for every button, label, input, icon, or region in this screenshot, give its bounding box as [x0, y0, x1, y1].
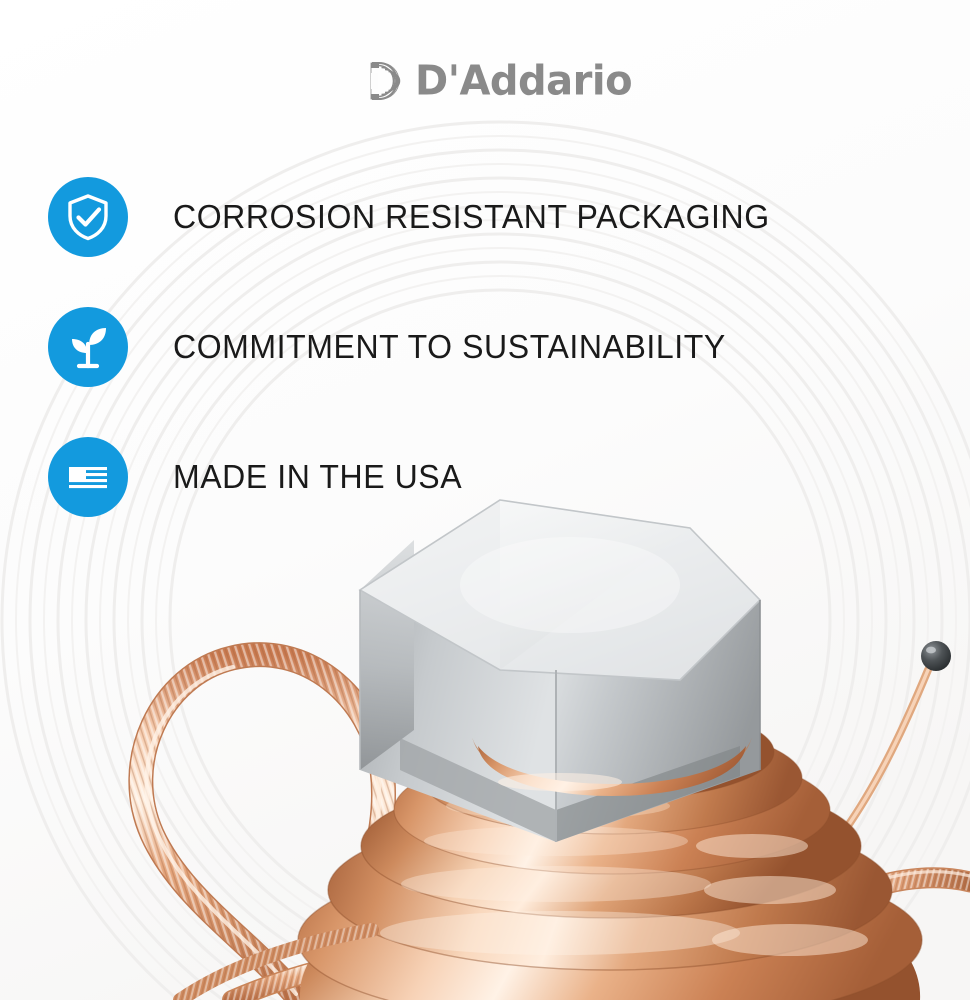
brand-logo: D'Addario [368, 59, 632, 103]
usa-flag-icon [48, 437, 128, 517]
feature-label-sustainability: COMMITMENT TO SUSTAINABILITY [173, 328, 726, 366]
seedling-leaf-icon [48, 307, 128, 387]
feature-label-made-in-usa: MADE IN THE USA [173, 458, 462, 496]
brand-wordmark: D'Addario [415, 61, 632, 102]
promo-canvas: D'Addario CORROSION RESISTANT PACKAGING [0, 0, 970, 1000]
feature-label-corrosion: CORROSION RESISTANT PACKAGING [173, 198, 770, 236]
feature-row-sustainability: COMMITMENT TO SUSTAINABILITY [48, 307, 928, 387]
feature-row-corrosion: CORROSION RESISTANT PACKAGING [48, 177, 928, 257]
feature-row-made-in-usa: MADE IN THE USA [48, 437, 928, 517]
feature-list: CORROSION RESISTANT PACKAGING COMMITMENT… [48, 177, 928, 567]
shield-check-icon [48, 177, 128, 257]
daddario-d-arcs-icon [368, 59, 404, 103]
